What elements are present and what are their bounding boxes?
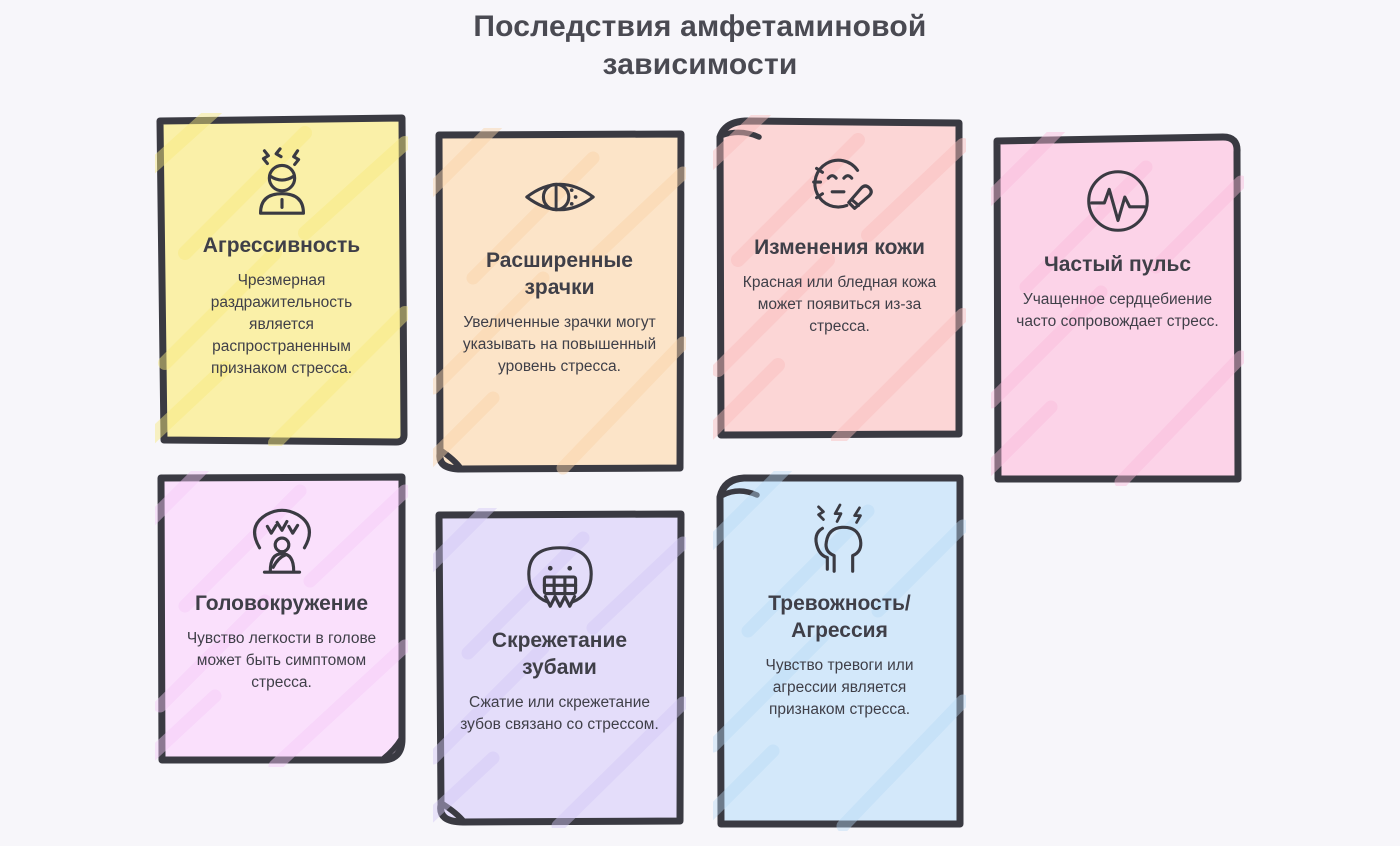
- card-desc-dizziness: Чувство легкости в голове может быть сим…: [180, 628, 384, 694]
- card-aggression[interactable]: Агрессивность Чрезмерная раздражительнос…: [155, 113, 408, 446]
- card-desc-teeth-grinding: Сжатие или скрежетание зубов связано со …: [458, 692, 662, 736]
- card-title-skin-changes: Изменения кожи: [754, 235, 925, 262]
- card-teeth-grinding[interactable]: Скрежетание зубами Сжатие или скрежетани…: [433, 508, 686, 828]
- eye-icon: [521, 158, 599, 236]
- card-title-teeth-grinding: Скрежетание зубами: [455, 628, 663, 682]
- card-rapid-pulse[interactable]: Частый пульс Учащенное сердцебиение част…: [991, 132, 1244, 486]
- card-dizziness[interactable]: Головокружение Чувство легкости в голове…: [155, 471, 408, 767]
- grinding-teeth-face-icon: [521, 538, 599, 616]
- card-anxiety-aggression[interactable]: Тревожность/ Агрессия Чувство тревоги ил…: [713, 471, 966, 831]
- card-title-dilated-pupils: Расширенные зрачки: [455, 248, 663, 302]
- pulse-circle-icon: [1079, 162, 1157, 240]
- dizzy-person-icon: [243, 501, 321, 579]
- face-brush-icon: [801, 145, 879, 223]
- card-desc-aggression: Чрезмерная раздражительность является ра…: [180, 270, 384, 380]
- card-title-anxiety-aggression: Тревожность/ Агрессия: [735, 591, 943, 645]
- card-title-rapid-pulse: Частый пульс: [1044, 252, 1191, 279]
- card-skin-changes[interactable]: Изменения кожи Красная или бледная кожа …: [713, 115, 966, 441]
- card-desc-dilated-pupils: Увеличенные зрачки могут указывать на по…: [458, 312, 662, 378]
- cards-board: Агрессивность Чрезмерная раздражительнос…: [0, 0, 1400, 846]
- two-heads-lightning-icon: [801, 501, 879, 579]
- card-dilated-pupils[interactable]: Расширенные зрачки Увеличенные зрачки мо…: [433, 128, 686, 475]
- card-title-aggression: Агрессивность: [203, 233, 360, 260]
- card-desc-skin-changes: Красная или бледная кожа может появиться…: [738, 272, 942, 338]
- card-desc-anxiety-aggression: Чувство тревоги или агрессии является пр…: [738, 655, 942, 721]
- card-desc-rapid-pulse: Учащенное сердцебиение часто сопровождае…: [1016, 289, 1220, 333]
- card-title-dizziness: Головокружение: [195, 591, 368, 618]
- angry-head-icon: [243, 143, 321, 221]
